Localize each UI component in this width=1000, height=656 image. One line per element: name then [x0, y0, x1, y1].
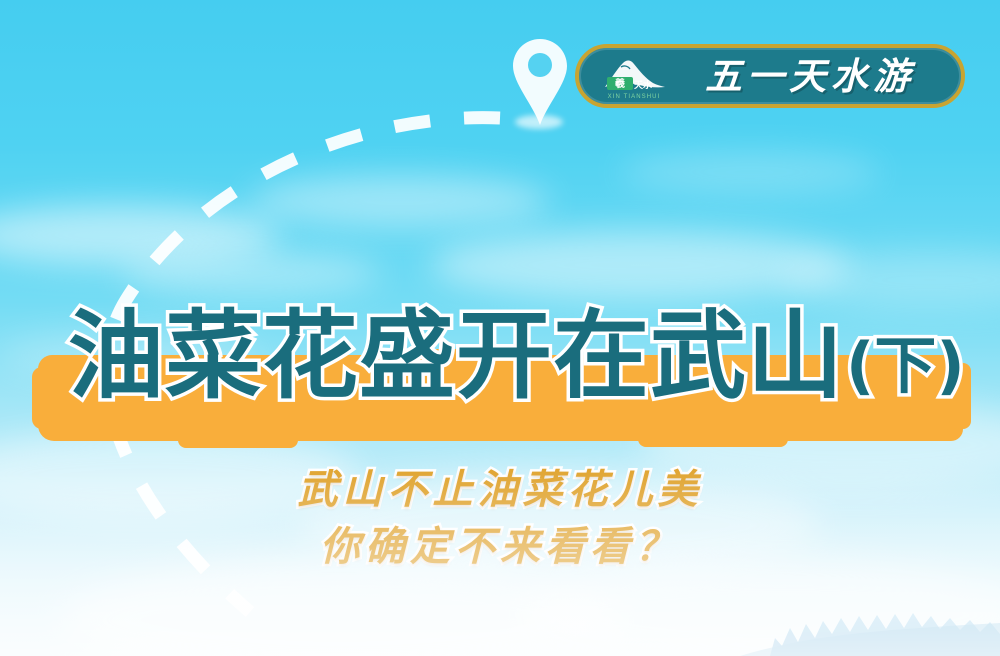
subtitle-line-1: 武山不止油菜花儿美 — [0, 462, 1000, 519]
svg-text:羲: 羲 — [614, 77, 625, 90]
map-pin-shadow — [515, 115, 563, 129]
mountain-icon: 羲 天水 — [601, 53, 667, 93]
cloud-decoration — [430, 230, 850, 300]
cloud-decoration — [120, 250, 380, 296]
subtitle-line-2: 你确定不来看看？ — [0, 519, 1000, 576]
logo-pinyin: XIN TIANSHUI — [601, 94, 667, 100]
band-edge-accent — [178, 436, 298, 448]
band-edge-accent — [638, 437, 788, 447]
svg-text:天水: 天水 — [634, 79, 653, 91]
page-title: 油菜花盛开在武山 (下) — [68, 296, 968, 416]
brand-badge-title: 五一天水游 — [681, 58, 943, 95]
map-pin — [505, 33, 575, 133]
poster-canvas: 羲 天水 XIN TIANSHUI 五一天水游 油菜花盛开在武山 (下) 武山不… — [0, 0, 1000, 656]
cloud-decoration — [620, 150, 880, 194]
brand-badge[interactable]: 羲 天水 XIN TIANSHUI 五一天水游 — [575, 44, 965, 108]
distant-treeline — [0, 566, 1000, 656]
subtitle: 武山不止油菜花儿美 你确定不来看看？ — [0, 462, 1000, 576]
page-title-suffix: (下) — [846, 335, 965, 397]
page-title-main: 油菜花盛开在武山 — [68, 308, 844, 404]
cloud-decoration — [0, 205, 280, 265]
xin-tianshui-mountain-logo: 羲 天水 XIN TIANSHUI — [601, 53, 667, 99]
cloud-decoration — [250, 175, 550, 227]
